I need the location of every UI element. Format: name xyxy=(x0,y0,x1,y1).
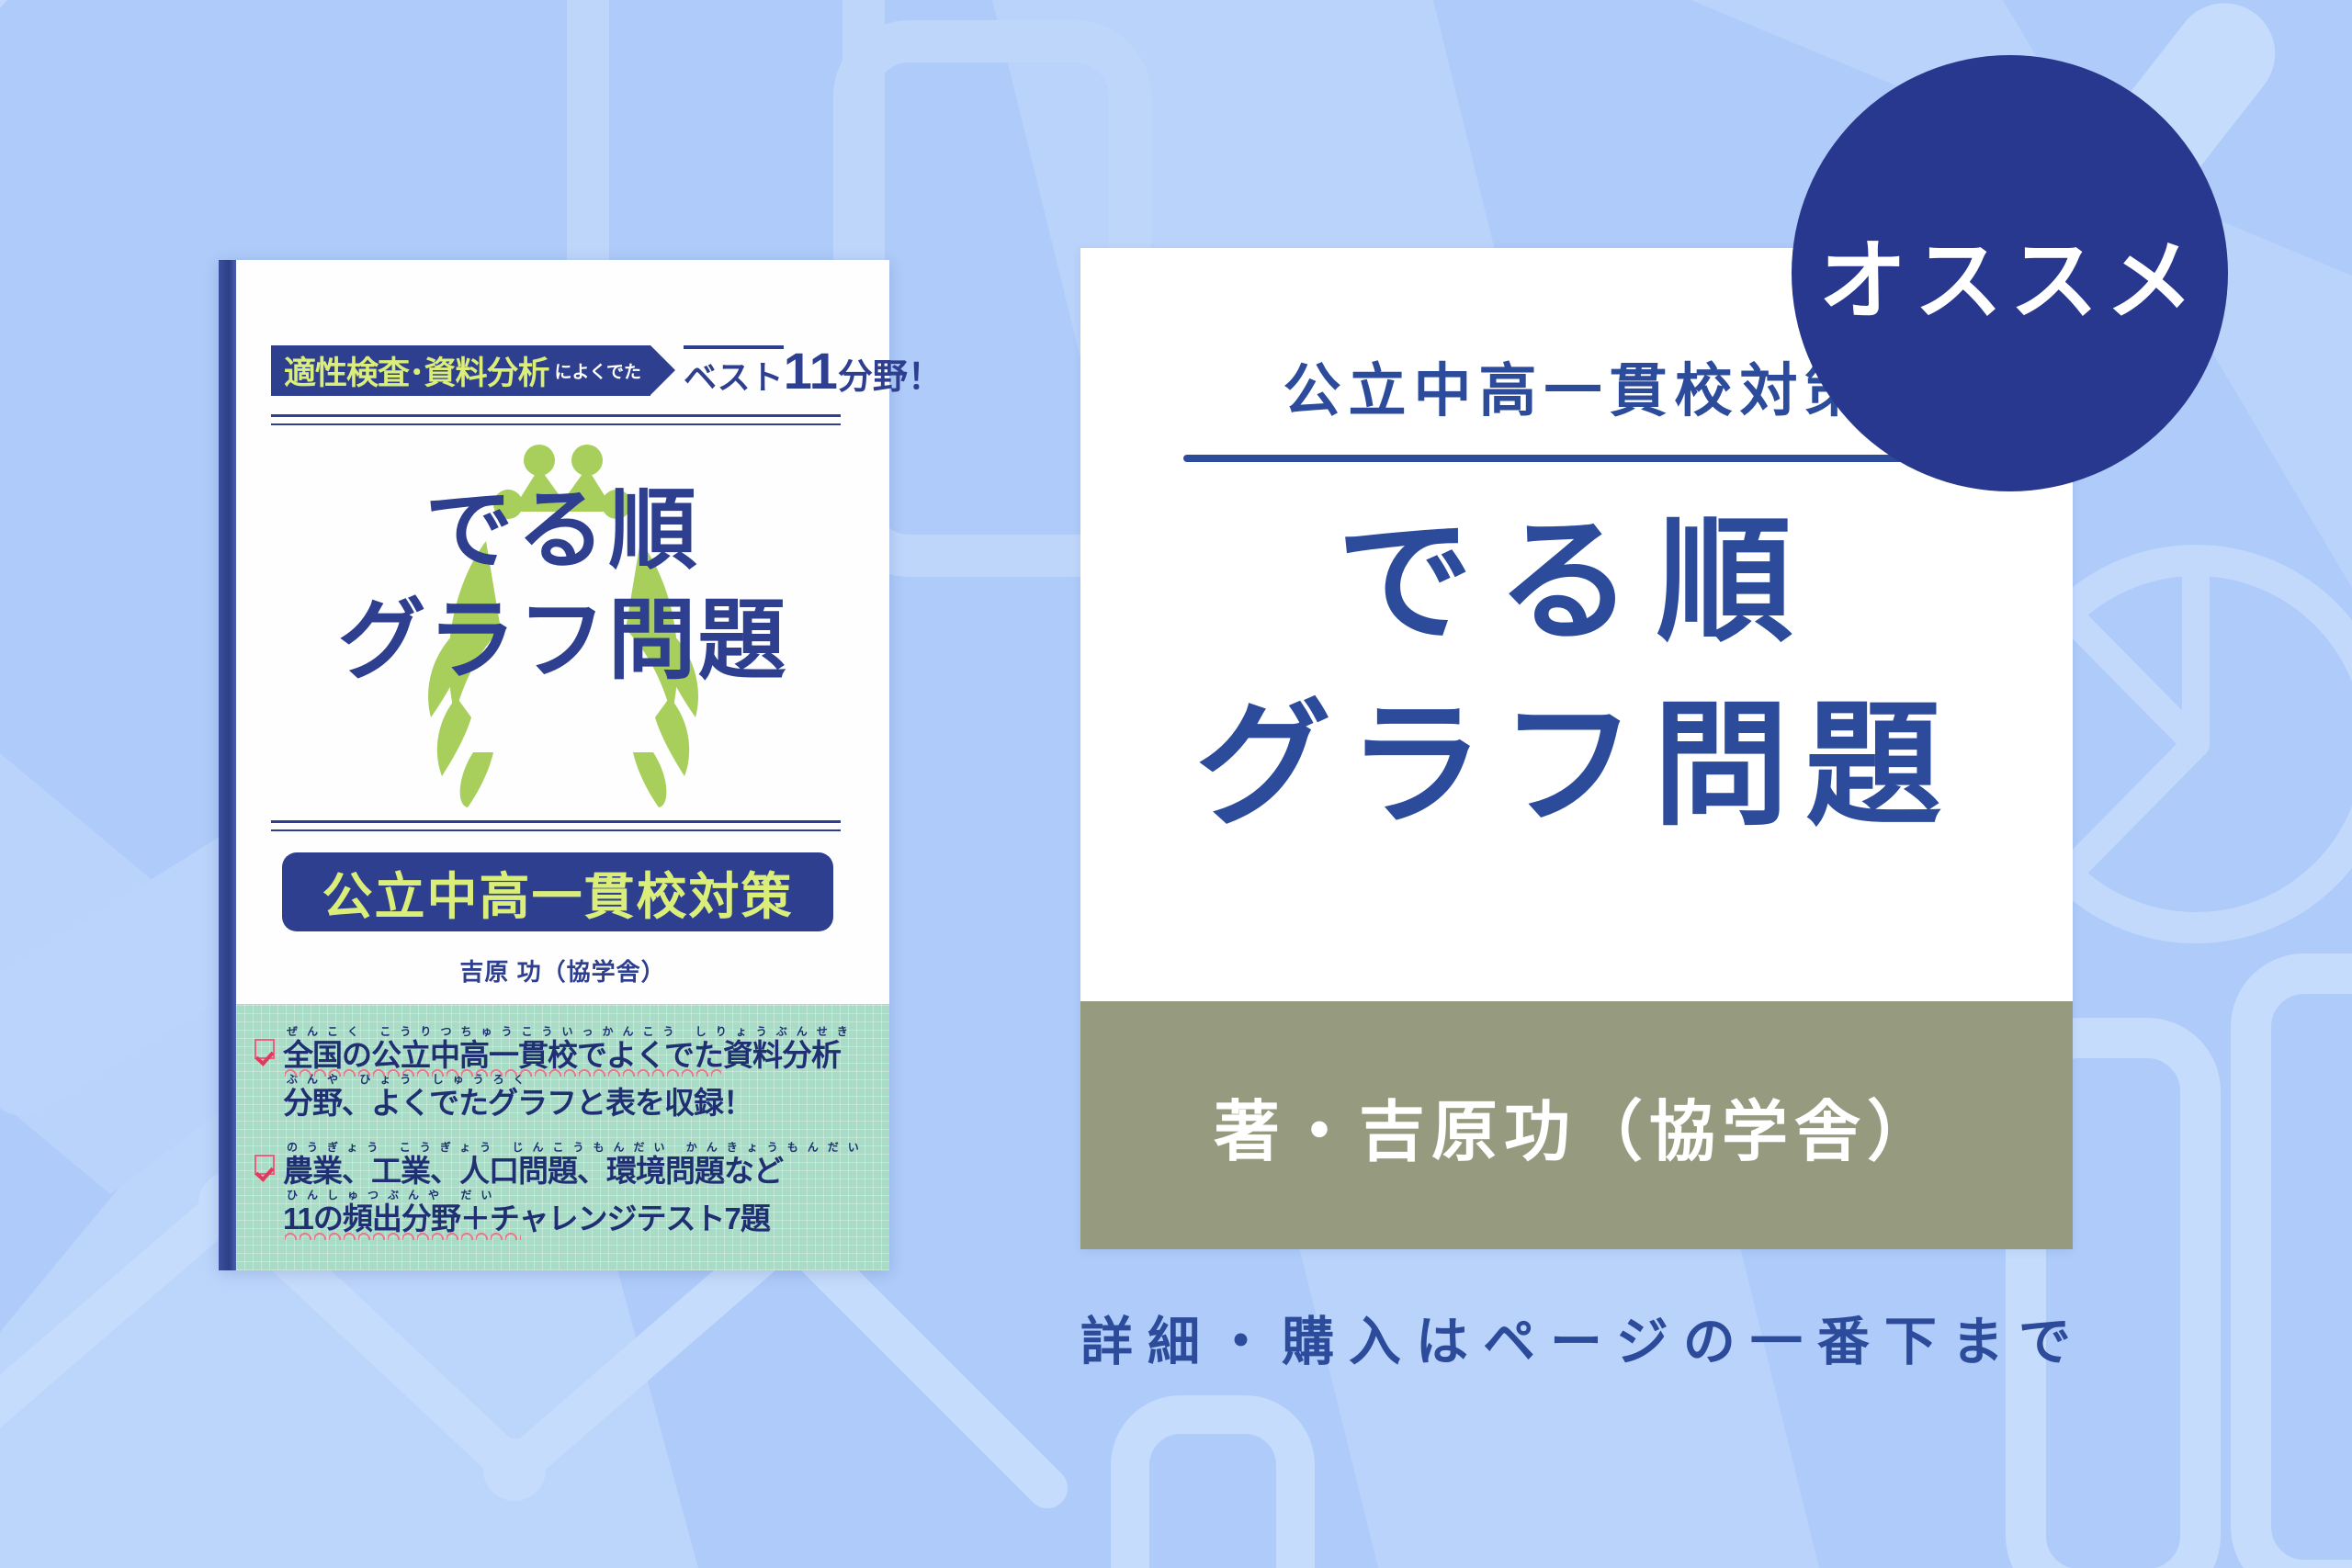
obi-line: 11の頻出分野＋チャレンジテスト7題 xyxy=(283,1201,873,1237)
cover-title-line2: グラフ問題 xyxy=(236,569,889,696)
book-spine xyxy=(219,260,236,1270)
obi-line: 農業、工業、人口問題、環境問題など xyxy=(283,1154,873,1190)
cover-title-artwork: でる順 グラフ問題 xyxy=(236,440,889,807)
book-cover-image: 適性検査･資料分析 によくでた ベスト 11 分野！ xyxy=(219,260,889,1270)
obi-line: 全国の公立中高一貫校でよくでた資料分析 xyxy=(283,1038,873,1074)
panel-author-label: 著・吉原功（協学舎） xyxy=(1214,1077,1939,1174)
cover-author: 吉原 功（協学舎） xyxy=(236,953,889,987)
cover-banner: 適性検査･資料分析 によくでた ベスト 11 分野！ xyxy=(271,345,841,396)
cover-banner-main-text: 適性検査･資料分析 xyxy=(284,347,549,394)
bg-linechart-point xyxy=(483,1438,546,1501)
cover-rule-top xyxy=(271,414,841,425)
panel-author-band: 著・吉原功（協学舎） xyxy=(1080,1001,2073,1249)
obi-bullet-text: のうぎょう こうぎょう じんこうもんだい かんきょうもんだい 農業、工業、人口問… xyxy=(283,1142,873,1237)
obi-furigana: ぜんこく こうりつちゅうこういっかんこう しりょうぶんせき xyxy=(287,1026,873,1038)
cover-banner-tail: 分野！ xyxy=(838,348,943,399)
cover-rule-bottom xyxy=(271,820,841,831)
cover-badge: 公立中高一貫校対策 xyxy=(282,852,833,931)
panel-divider xyxy=(1183,455,1970,462)
obi-bullet: ぜんこく こうりつちゅうこういっかんこう しりょうぶんせき 全国の公立中高一貫校… xyxy=(253,1026,873,1122)
book-front-face: 適性検査･資料分析 によくでた ベスト 11 分野！ xyxy=(236,260,889,1270)
obi-line: 分野、よくでたグラフと表を収録！ xyxy=(283,1086,873,1122)
obi-furigana: ひんしゅつぶんや だい xyxy=(287,1190,873,1201)
obi-furigana: のうぎょう こうぎょう じんこうもんだい かんきょうもんだい xyxy=(287,1142,873,1154)
cover-banner-best-label: ベスト xyxy=(684,345,784,399)
cover-title-line1: でる順 xyxy=(236,458,889,586)
cover-badge-label: 公立中高一貫校対策 xyxy=(322,855,793,929)
book-obi-band: ぜんこく こうりつちゅうこういっかんこう しりょうぶんせき 全国の公立中高一貫校… xyxy=(236,1004,889,1270)
cover-banner-sub-text: によくでた xyxy=(555,358,641,383)
cover-banner-number: 11 xyxy=(784,348,838,394)
recommended-badge-label: オススメ xyxy=(1819,209,2201,337)
recommended-badge: オススメ xyxy=(1792,55,2228,491)
obi-bullet-text: ぜんこく こうりつちゅうこういっかんこう しりょうぶんせき 全国の公立中高一貫校… xyxy=(283,1026,873,1122)
cover-banner-arrow: 適性検査･資料分析 によくでた xyxy=(271,345,650,396)
bottom-caption: 詳細・購入はページの一番下まで xyxy=(0,1300,2352,1375)
cover-banner-best-group: ベスト 11 分野！ xyxy=(684,345,943,396)
panel-title-line2: グラフ問題 xyxy=(1080,698,2073,834)
book-cover-top: 適性検査･資料分析 によくでた ベスト 11 分野！ xyxy=(236,260,889,1004)
check-icon xyxy=(254,1039,275,1059)
check-icon xyxy=(254,1155,275,1175)
obi-bullet: のうぎょう こうぎょう じんこうもんだい かんきょうもんだい 農業、工業、人口問… xyxy=(253,1142,873,1237)
panel-title-line1: でる順 xyxy=(1080,514,2073,650)
